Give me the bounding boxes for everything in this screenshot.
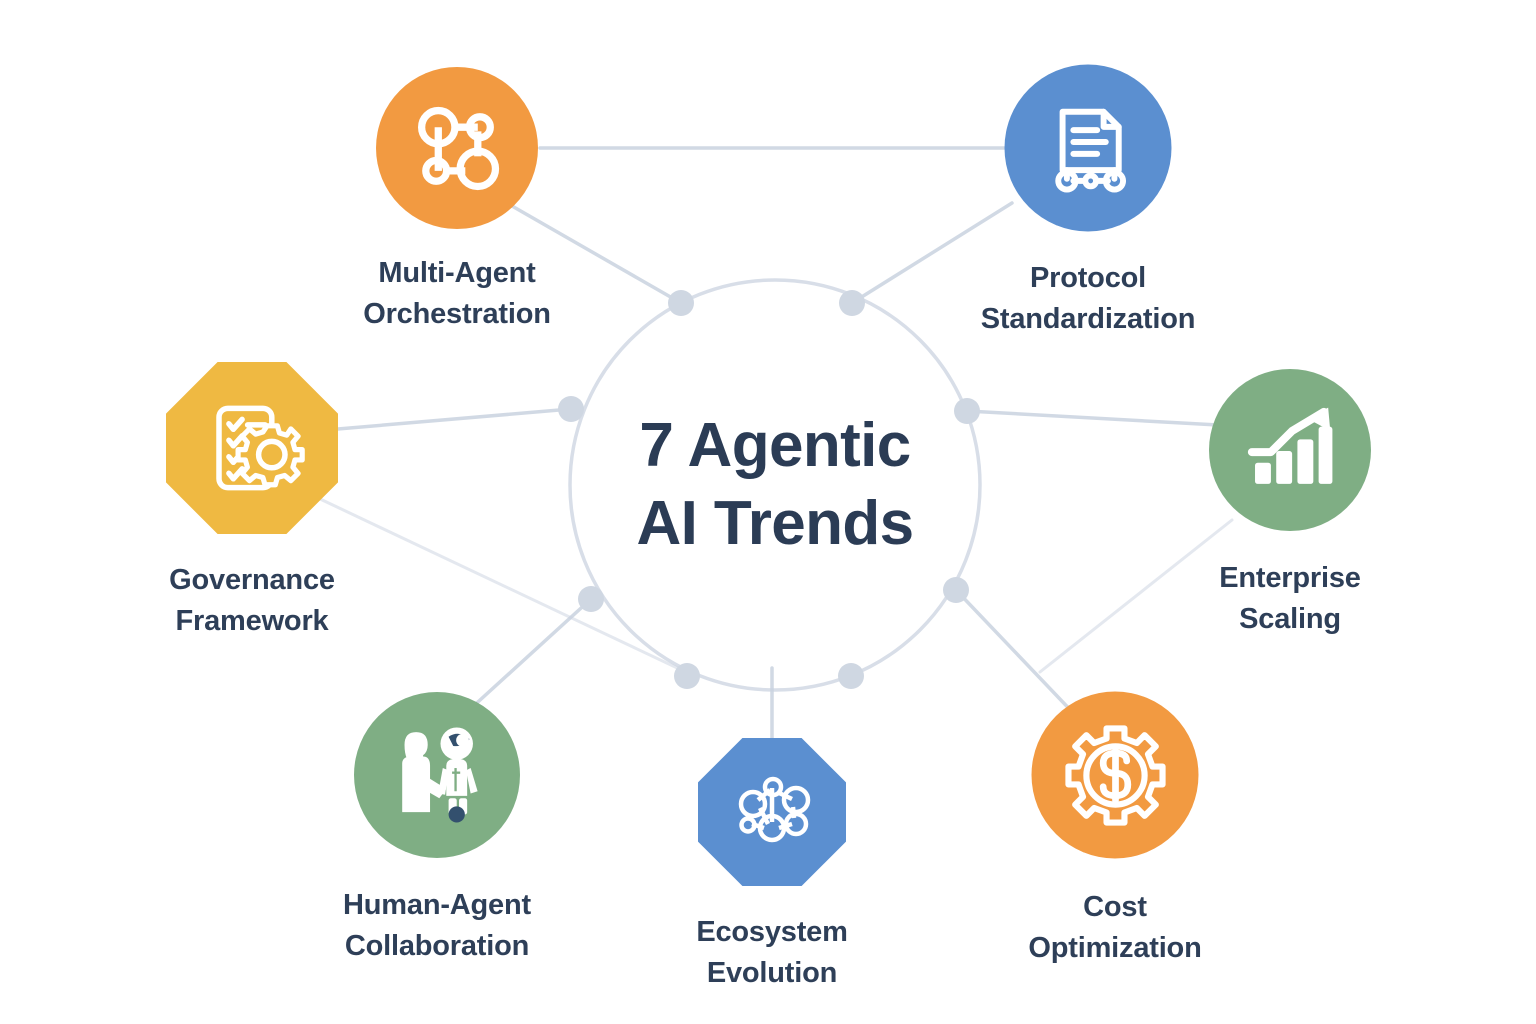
label-enterprise-scaling: Enterprise Scaling <box>1140 558 1440 640</box>
badge-enterprise-scaling[interactable] <box>1209 369 1371 531</box>
hub-dot-multiagent <box>668 290 694 316</box>
hub-dot-protocol <box>839 290 865 316</box>
spoke-enterprise <box>967 411 1218 425</box>
label-cost-optimization: Cost Optimization <box>955 887 1275 969</box>
label-line2: Standardization <box>981 303 1196 335</box>
hub-dot-cost <box>943 577 969 603</box>
label-line1: Human-Agent <box>343 889 531 921</box>
label-protocol-standardization: Protocol Standardization <box>918 258 1258 340</box>
network-nodes-icon <box>405 96 509 200</box>
label-governance-framework: Governance Framework <box>92 560 412 642</box>
network-cluster-icon <box>722 762 822 862</box>
document-protocol-icon <box>1034 94 1142 202</box>
label-line2: Optimization <box>1028 932 1201 964</box>
diagram-canvas: 7 Agentic AI Trends Multi-Agent Orchestr… <box>0 0 1536 1024</box>
hub-dot-governance <box>558 396 584 422</box>
gear-dollar-icon <box>1059 719 1171 831</box>
badge-protocol-standardization[interactable] <box>1005 65 1172 232</box>
hub-dot-human-agent <box>578 586 604 612</box>
hub-dot-ecosystem-right <box>838 663 864 689</box>
spoke-human-agent <box>468 599 591 711</box>
label-human-agent-collaboration: Human-Agent Collaboration <box>272 885 602 967</box>
badge-human-agent-collaboration[interactable] <box>354 692 520 858</box>
spoke-cost <box>956 590 1078 718</box>
label-line2: Evolution <box>707 957 837 989</box>
label-line2: Orchestration <box>363 298 551 330</box>
human-robot-handshake-icon <box>379 717 495 833</box>
label-line1: Enterprise <box>1219 562 1360 594</box>
label-line1: Multi-Agent <box>378 257 535 289</box>
label-ecosystem-evolution: Ecosystem Evolution <box>622 912 922 994</box>
checklist-gear-icon <box>197 393 307 503</box>
badge-cost-optimization[interactable] <box>1032 692 1199 859</box>
label-line1: Governance <box>169 564 335 596</box>
label-line2: Framework <box>176 605 329 637</box>
label-line2: Scaling <box>1239 603 1341 635</box>
label-line1: Ecosystem <box>696 916 847 948</box>
badge-ecosystem-evolution[interactable] <box>698 738 846 886</box>
spoke-governance <box>326 409 571 430</box>
label-line1: Protocol <box>1030 262 1146 294</box>
center-title: 7 Agentic AI Trends <box>636 407 913 563</box>
label-line1: Cost <box>1083 891 1147 923</box>
hub-dot-enterprise <box>954 398 980 424</box>
badge-multi-agent-orchestration[interactable] <box>376 67 538 229</box>
hub-dot-ecosystem <box>674 663 700 689</box>
center-title-line1: 7 Agentic <box>639 411 910 480</box>
label-multi-agent-orchestration: Multi-Agent Orchestration <box>292 253 622 335</box>
center-title-line2: AI Trends <box>636 489 913 558</box>
label-line2: Collaboration <box>345 930 529 962</box>
growth-chart-icon <box>1237 397 1343 503</box>
